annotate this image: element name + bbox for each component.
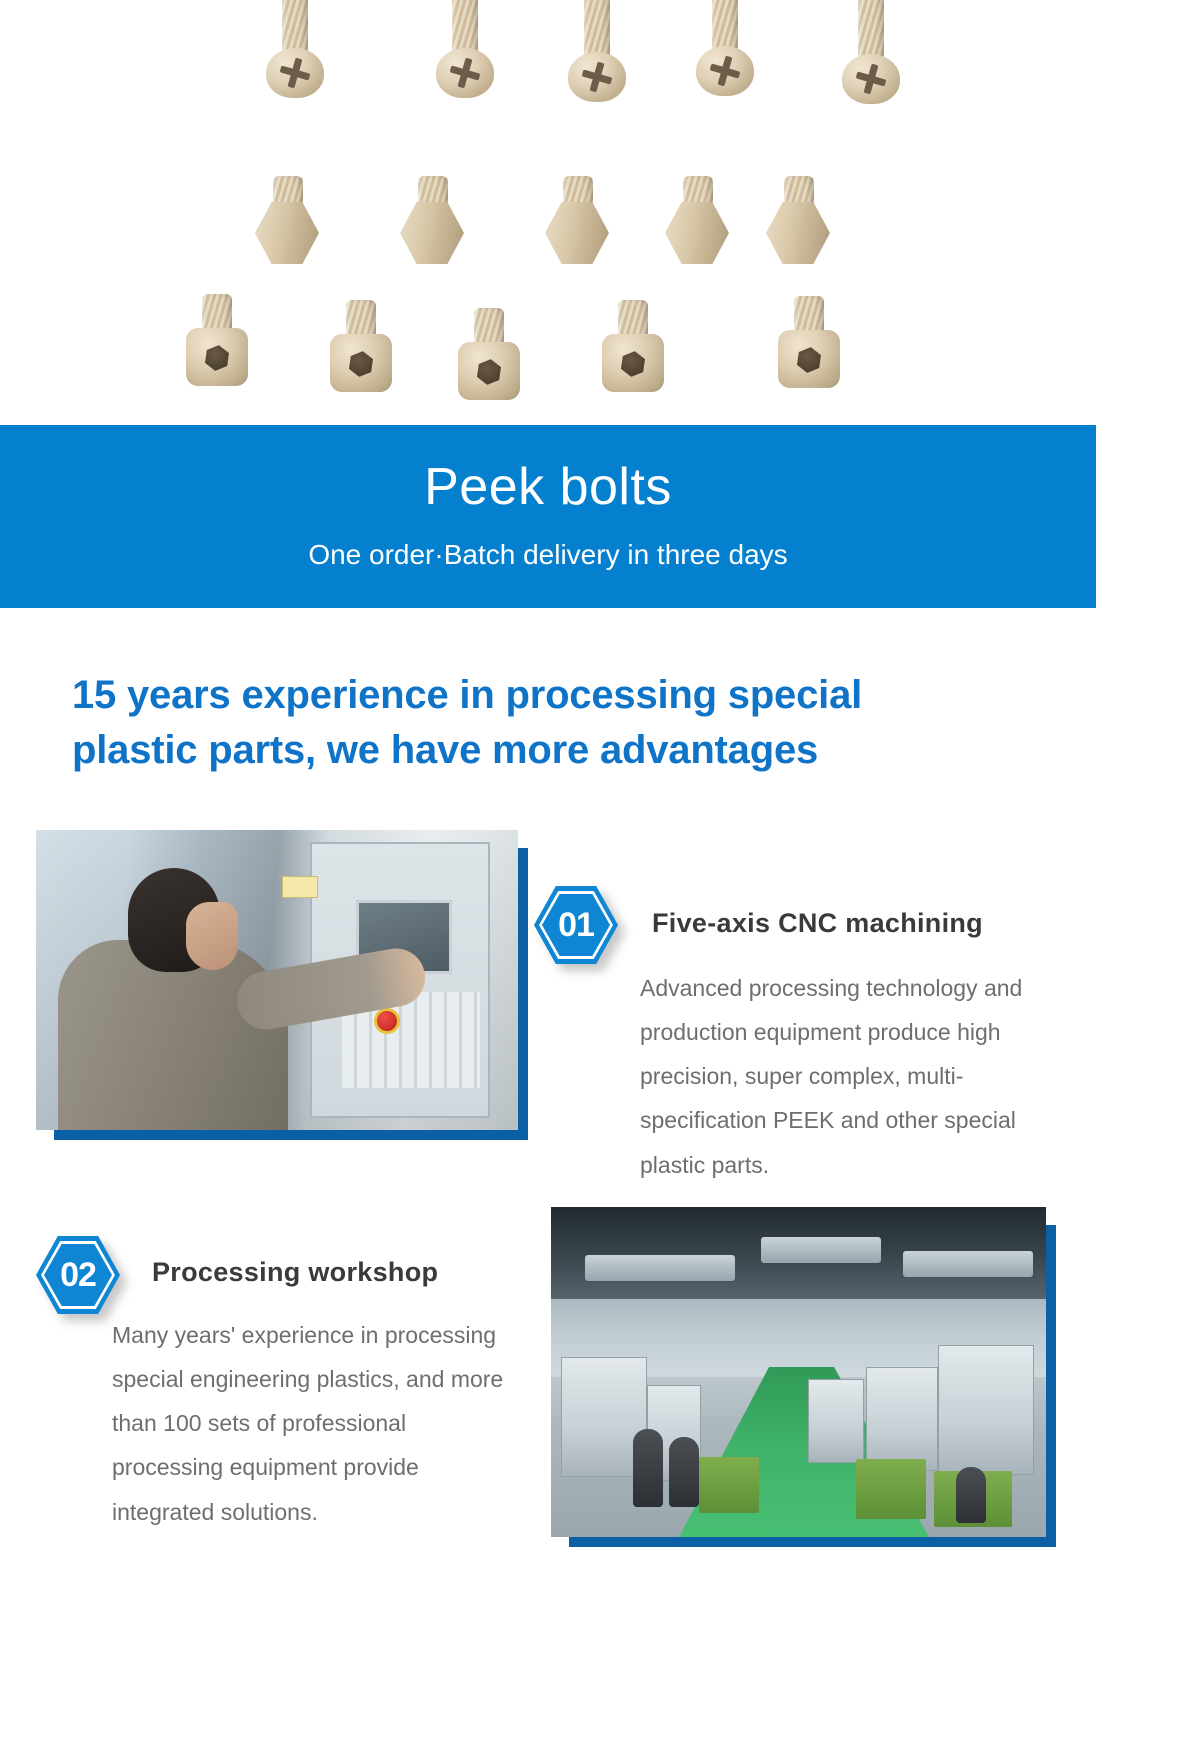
- feature-title-02: Processing workshop: [152, 1257, 438, 1288]
- section-heading-line-1: 15 years experience in processing specia…: [72, 668, 1062, 723]
- feature-body-02: Many years' experience in processing spe…: [112, 1313, 514, 1534]
- feature-badge-number: 02: [36, 1236, 120, 1314]
- hero-product-image: [0, 0, 1200, 425]
- section-heading: 15 years experience in processing specia…: [72, 668, 1062, 778]
- banner-title: Peek bolts: [0, 425, 1096, 513]
- feature-badge-number: 01: [534, 886, 618, 964]
- feature-badge-01: 01: [534, 886, 618, 964]
- product-title-banner: Peek bolts One order·Batch delivery in t…: [0, 425, 1096, 608]
- product-detail-page: Peek bolts One order·Batch delivery in t…: [0, 0, 1200, 1752]
- feature-body-01: Advanced processing technology and produ…: [640, 966, 1064, 1187]
- feature-title-01: Five-axis CNC machining: [652, 908, 983, 939]
- feature-image-processing-workshop: [551, 1207, 1046, 1537]
- feature-badge-02: 02: [36, 1236, 120, 1314]
- section-heading-line-2: plastic parts, we have more advantages: [72, 723, 1062, 778]
- feature-image-cnc-machining: [36, 830, 518, 1130]
- banner-subtitle: One order·Batch delivery in three days: [0, 513, 1096, 569]
